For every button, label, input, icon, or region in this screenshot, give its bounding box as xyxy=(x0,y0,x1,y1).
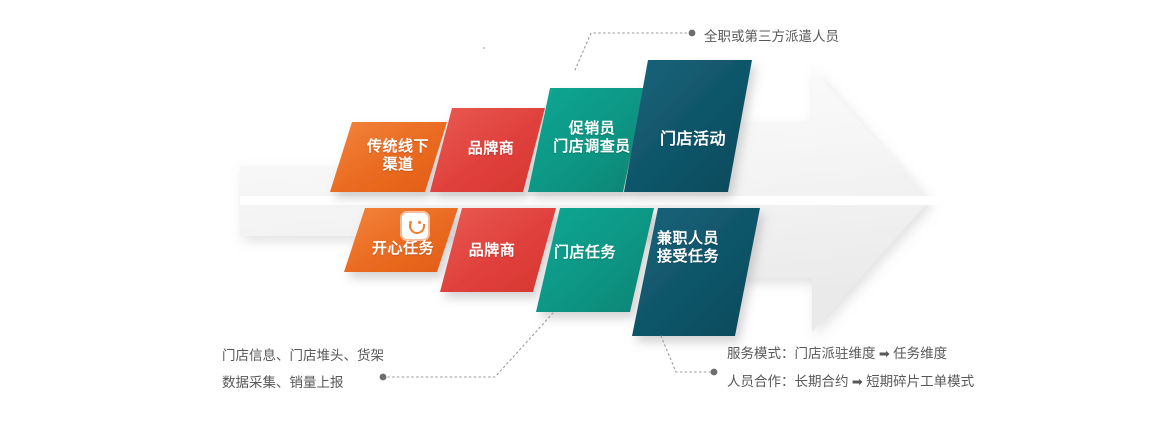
image-speck xyxy=(483,47,485,49)
diagram-artwork xyxy=(0,0,1150,430)
smiley-mouth-icon xyxy=(409,224,425,234)
smiley-face-icon-box xyxy=(402,213,428,239)
annotation-service-model-line-1-prefix: 服务模式：门店派驻维度 xyxy=(727,346,876,361)
annotation-service-model-line-2-prefix: 人员合作：长期合约 xyxy=(727,374,849,389)
annotation-staffing-line-1: 全职或第三方派遣人员 xyxy=(704,23,839,50)
annotation-data-collection: 门店信息、门店堆头、货架 数据采集、销量上报 xyxy=(222,342,384,396)
right-arrow-icon: ➡ xyxy=(879,347,890,362)
leader-dot-top xyxy=(689,30,696,37)
top-row-shapes xyxy=(330,60,752,192)
annotation-data-collection-line-1: 门店信息、门店堆头、货架 xyxy=(222,342,384,369)
arrow-band-split xyxy=(240,196,940,205)
annotation-service-model-line-2: 人员合作：长期合约 ➡ 短期碎片工单模式 xyxy=(727,368,974,396)
annotation-service-model: 服务模式：门店派驻维度 ➡ 任务维度 人员合作：长期合约 ➡ 短期碎片工单模式 xyxy=(727,340,974,396)
leader-line-bottom-right xyxy=(661,336,711,372)
annotation-staffing: 全职或第三方派遣人员 xyxy=(704,23,839,50)
annotation-data-collection-line-2: 数据采集、销量上报 xyxy=(222,369,384,396)
right-arrow-icon: ➡ xyxy=(852,375,863,390)
leader-line-bottom-left xyxy=(386,313,553,377)
annotation-service-model-line-1: 服务模式：门店派驻维度 ➡ 任务维度 xyxy=(727,340,974,368)
smiley-face-icon xyxy=(400,211,430,241)
annotation-service-model-line-2-suffix: 短期碎片工单模式 xyxy=(866,374,974,389)
annotation-service-model-line-1-suffix: 任务维度 xyxy=(893,346,947,361)
diagram-canvas: 传统线下 渠道 品牌商 促销员 门店调查员 门店活动 开心任务 品牌商 门店任务… xyxy=(0,0,1150,430)
leader-dot-bottom-right xyxy=(711,369,718,376)
